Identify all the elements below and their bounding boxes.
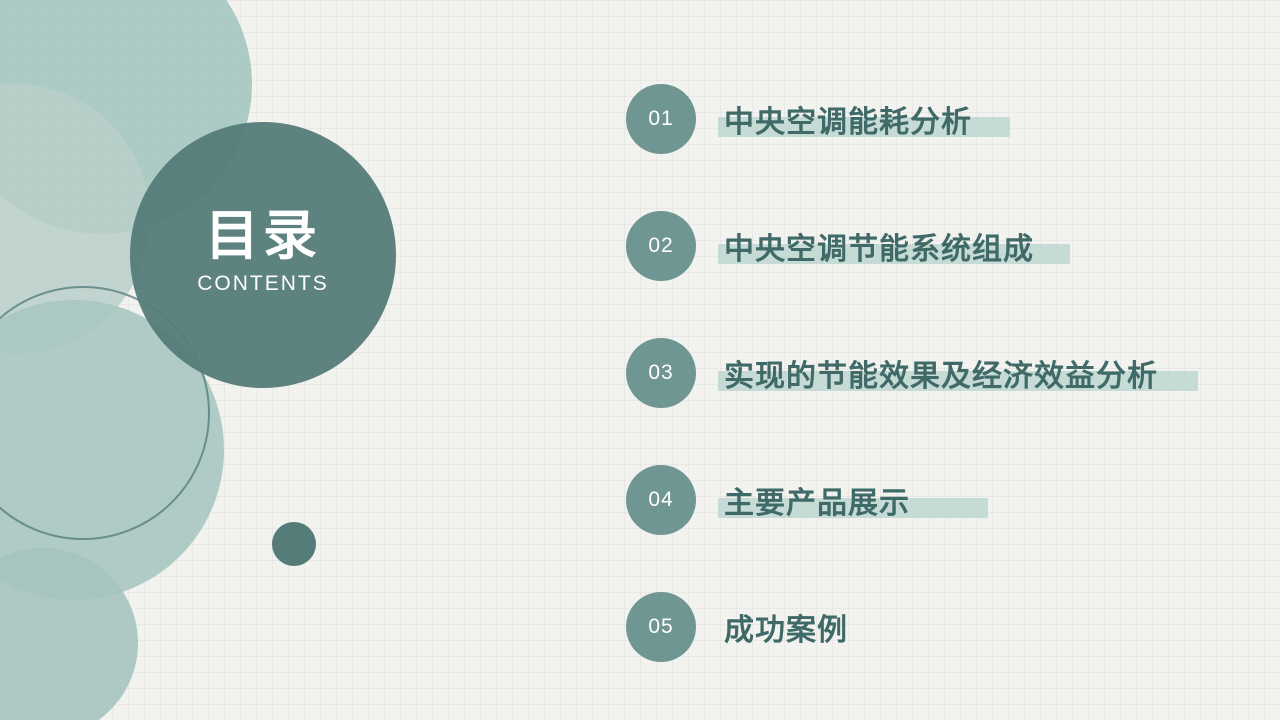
agenda-item-01[interactable]: 01 中央空调能耗分析 — [626, 84, 1266, 154]
agenda-text-wrap: 实现的节能效果及经济效益分析 — [724, 351, 1158, 395]
agenda-item-04[interactable]: 04 主要产品展示 — [626, 465, 1266, 535]
decorative-dot — [272, 522, 316, 566]
agenda-text-wrap: 中央空调能耗分析 — [724, 97, 972, 141]
agenda-number-badge: 01 — [626, 84, 696, 154]
agenda-number-badge: 04 — [626, 465, 696, 535]
agenda-item-label: 主要产品展示 — [724, 478, 910, 522]
agenda-item-02[interactable]: 02 中央空调节能系统组成 — [626, 211, 1266, 281]
agenda-number-badge: 03 — [626, 338, 696, 408]
agenda-item-label: 成功案例 — [724, 605, 848, 649]
agenda-number-badge: 05 — [626, 592, 696, 662]
slide-contents: 目录 CONTENTS 01 中央空调能耗分析 02 中央空调节能系统组成 03… — [0, 0, 1280, 720]
page-title: 目录 — [130, 205, 396, 267]
contents-heading-block: 目录 CONTENTS — [130, 205, 396, 299]
agenda-item-03[interactable]: 03 实现的节能效果及经济效益分析 — [626, 338, 1266, 408]
agenda-item-label: 实现的节能效果及经济效益分析 — [724, 351, 1158, 395]
agenda-number-badge: 02 — [626, 211, 696, 281]
agenda-list: 01 中央空调能耗分析 02 中央空调节能系统组成 03 实现的节能效果及经济效… — [626, 84, 1266, 662]
agenda-item-label: 中央空调节能系统组成 — [724, 224, 1034, 268]
agenda-item-05[interactable]: 05 成功案例 — [626, 592, 1266, 662]
agenda-item-label: 中央空调能耗分析 — [724, 97, 972, 141]
agenda-text-wrap: 中央空调节能系统组成 — [724, 224, 1034, 268]
agenda-text-wrap: 成功案例 — [724, 605, 848, 649]
page-subtitle: CONTENTS — [130, 269, 396, 299]
agenda-text-wrap: 主要产品展示 — [724, 478, 910, 522]
